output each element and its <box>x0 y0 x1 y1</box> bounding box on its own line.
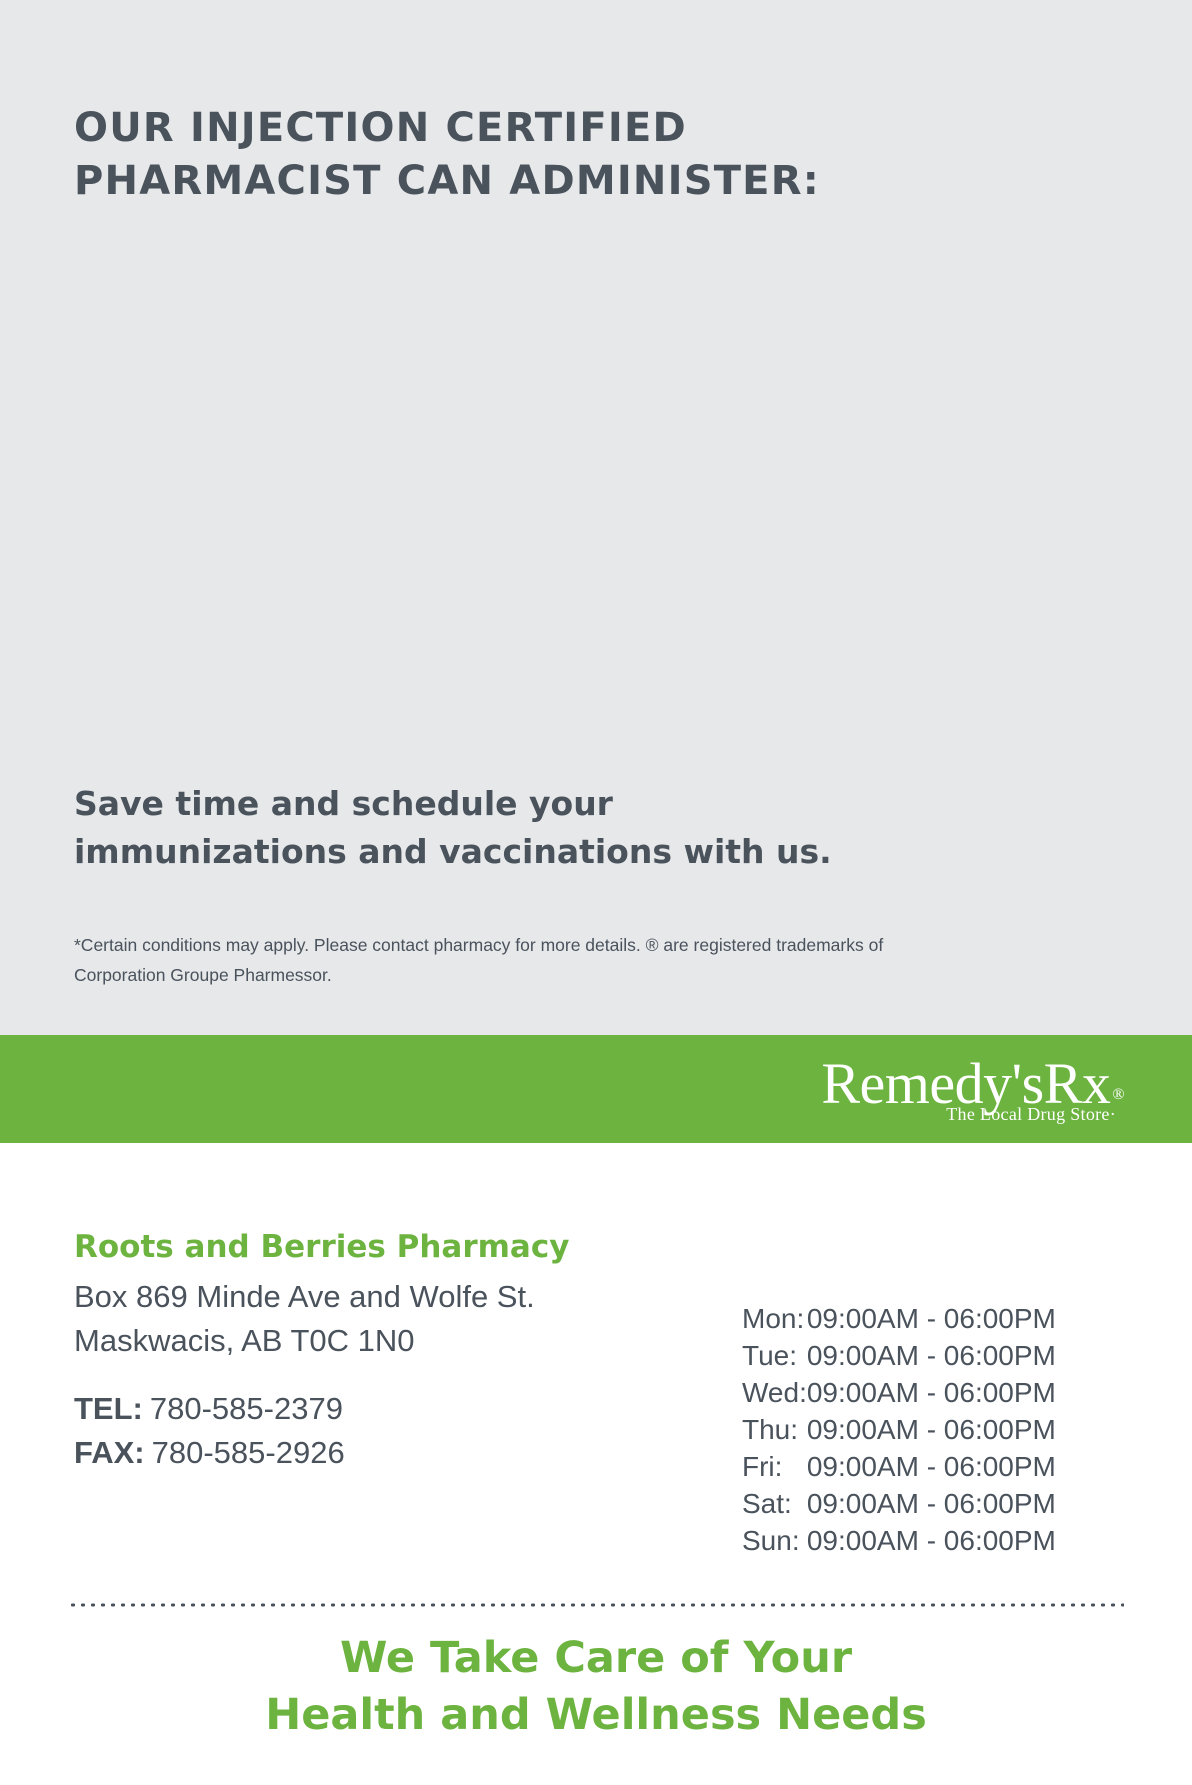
table-row: Tue: 09:00AM - 06:00PM <box>742 1338 1056 1375</box>
store-name: Roots and Berries Pharmacy <box>74 1228 674 1267</box>
fax-label: FAX: <box>74 1435 145 1470</box>
fax-row: FAX:780-585-2926 <box>74 1431 674 1475</box>
hours-time-value: 09:00AM - 06:00PM <box>807 1338 1056 1375</box>
promo-subheading-line-2: immunizations and vaccinations with us. <box>74 828 934 876</box>
brand-logo: Remedy'sRx® The Local Drug Store· <box>821 1055 1124 1123</box>
table-row: Mon: 09:00AM - 06:00PM <box>742 1301 1056 1338</box>
hours-time-value: 09:00AM - 06:00PM <box>807 1375 1056 1412</box>
store-address-line-1: Box 869 Minde Ave and Wolfe St. <box>74 1275 674 1319</box>
promo-subheading-line-1: Save time and schedule your <box>74 780 934 828</box>
hours-time-value: 09:00AM - 06:00PM <box>807 1523 1056 1560</box>
hours-day-label: Sun: <box>742 1523 807 1560</box>
footer-tagline-line-1: We Take Care of Your <box>0 1630 1192 1687</box>
telephone-label: TEL: <box>74 1391 143 1426</box>
disclaimer-line-2: Corporation Groupe Pharmessor. <box>74 960 1114 990</box>
footer-tagline: We Take Care of Your Health and Wellness… <box>0 1630 1192 1744</box>
telephone-row: TEL:780-585-2379 <box>74 1387 674 1431</box>
hours-time-value: 09:00AM - 06:00PM <box>807 1301 1056 1338</box>
store-hours-table: Mon: 09:00AM - 06:00PM Tue: 09:00AM - 06… <box>742 1301 1056 1560</box>
hours-day-label: Tue: <box>742 1338 807 1375</box>
disclaimer-text: *Certain conditions may apply. Please co… <box>74 930 1114 990</box>
hours-day-label: Wed: <box>742 1375 807 1412</box>
hours-time-value: 09:00AM - 06:00PM <box>807 1449 1056 1486</box>
header-panel: OUR INJECTION CERTIFIED PHARMACIST CAN A… <box>0 0 1192 1035</box>
page-title-line-1: OUR INJECTION CERTIFIED <box>74 102 974 155</box>
brand-band: Remedy'sRx® The Local Drug Store· <box>0 1035 1192 1143</box>
dotted-divider <box>68 1601 1124 1609</box>
hours-time-value: 09:00AM - 06:00PM <box>807 1486 1056 1523</box>
table-row: Sat: 09:00AM - 06:00PM <box>742 1486 1056 1523</box>
store-address: Box 869 Minde Ave and Wolfe St. Maskwaci… <box>74 1275 674 1363</box>
store-contact: TEL:780-585-2379 FAX:780-585-2926 <box>74 1387 674 1475</box>
page-title: OUR INJECTION CERTIFIED PHARMACIST CAN A… <box>74 102 974 208</box>
disclaimer-line-1: *Certain conditions may apply. Please co… <box>74 930 1114 960</box>
table-row: Fri: 09:00AM - 06:00PM <box>742 1449 1056 1486</box>
store-details: Roots and Berries Pharmacy Box 869 Minde… <box>74 1228 674 1475</box>
telephone-value[interactable]: 780-585-2379 <box>150 1391 343 1426</box>
hours-time-value: 09:00AM - 06:00PM <box>807 1412 1056 1449</box>
table-row: Thu: 09:00AM - 06:00PM <box>742 1412 1056 1449</box>
footer-tagline-line-2: Health and Wellness Needs <box>0 1687 1192 1744</box>
registered-trademark-icon: ® <box>1112 1086 1124 1103</box>
hours-day-label: Fri: <box>742 1449 807 1486</box>
hours-day-label: Mon: <box>742 1301 807 1338</box>
hours-day-label: Thu: <box>742 1412 807 1449</box>
table-row: Sun: 09:00AM - 06:00PM <box>742 1523 1056 1560</box>
store-address-line-2: Maskwacis, AB T0C 1N0 <box>74 1319 674 1363</box>
table-row: Wed: 09:00AM - 06:00PM <box>742 1375 1056 1412</box>
promo-subheading: Save time and schedule your immunization… <box>74 780 934 875</box>
hours-day-label: Sat: <box>742 1486 807 1523</box>
page-title-line-2: PHARMACIST CAN ADMINISTER: <box>74 155 974 208</box>
fax-value: 780-585-2926 <box>152 1435 345 1470</box>
store-hours-body: Mon: 09:00AM - 06:00PM Tue: 09:00AM - 06… <box>742 1301 1056 1560</box>
